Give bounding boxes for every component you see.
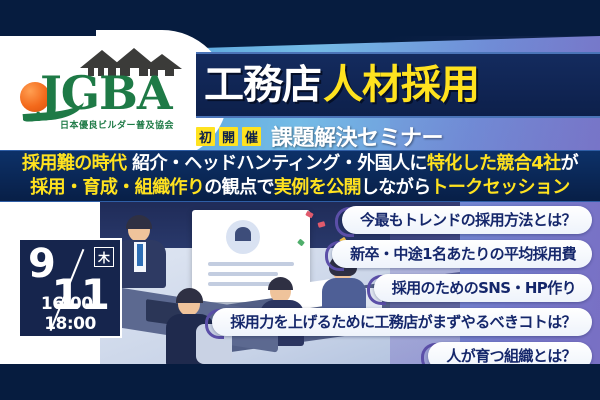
topic-row: 採用力を上げるために工務店がまずやるべきコトは？ bbox=[172, 308, 592, 336]
first-hold-char-3: 催 bbox=[242, 127, 261, 146]
event-day-of-week: 木 bbox=[94, 247, 114, 267]
bottom-navy-band bbox=[0, 364, 600, 400]
message-run-2: 実例を公開 bbox=[274, 177, 361, 198]
topic-row: 採用のためのSNS・HP作り bbox=[172, 274, 592, 302]
logo-letters: JGBA bbox=[40, 66, 172, 120]
jgba-logo: JGBA 日本優良ビルダー普及協会 bbox=[18, 48, 188, 140]
seminar-banner: 工務店 人材採用 初 開 催 課題解決セミナー JGBA 日本優良ビルダー普及協… bbox=[0, 0, 600, 400]
topic-pill-2: 新卒・中途1名あたりの平均採用費 bbox=[332, 240, 592, 268]
title-jinzai-saiyo: 人材採用 bbox=[323, 65, 479, 105]
message-band: 採用難の時代 紹介・ヘッドハンティング・外国人に特化した競合4社が 採用・育成・… bbox=[0, 150, 600, 202]
topic-row: 今最もトレンドの採用方法とは？ bbox=[172, 206, 592, 234]
seminar-subtitle: 課題解決セミナー bbox=[271, 120, 443, 152]
subtitle-row: 初 開 催 課題解決セミナー bbox=[196, 122, 600, 150]
topic-row: 新卒・中途1名あたりの平均採用費 bbox=[172, 240, 592, 268]
title-kumuten: 工務店 bbox=[204, 65, 321, 105]
message-line-2: 採用・育成・組織作りの観点で実例を公開しながらトークセッション bbox=[30, 176, 569, 200]
message-line-1: 採用難の時代 紹介・ヘッドハンティング・外国人に特化した競合4社が bbox=[22, 152, 578, 176]
event-date-block: 9 木 11 16:00-18:00 bbox=[18, 238, 122, 338]
top-navy-band bbox=[0, 0, 600, 38]
message-run-0: 採用難の時代 bbox=[22, 153, 126, 174]
message-run-1: 紹介・ヘッドハンティング・外国人に bbox=[126, 153, 426, 174]
topic-pill-4: 採用力を上げるために工務店がまずやるべきコトは？ bbox=[212, 308, 592, 336]
logo-subtitle: 日本優良ビルダー普及協会 bbox=[46, 118, 188, 131]
message-run-3: が bbox=[561, 153, 578, 174]
topic-pill-1: 今最もトレンドの採用方法とは？ bbox=[342, 206, 592, 234]
page-title: 工務店 人材採用 bbox=[204, 54, 600, 116]
first-hold-char-2: 開 bbox=[219, 127, 238, 146]
message-run-0: 採用・育成・組織作り bbox=[30, 177, 204, 198]
message-run-1: の観点で bbox=[204, 177, 274, 198]
topic-list: 今最もトレンドの採用方法とは？新卒・中途1名あたりの平均採用費採用のためのSNS… bbox=[172, 206, 592, 376]
topic-pill-3: 採用のためのSNS・HP作り bbox=[374, 274, 592, 302]
first-hold-char-1: 初 bbox=[196, 127, 215, 146]
event-time: 16:00-18:00 bbox=[20, 294, 120, 334]
message-run-2: 特化した競合4社 bbox=[427, 153, 561, 174]
message-run-4: トークセッション bbox=[431, 177, 570, 198]
message-run-3: しながら bbox=[361, 177, 431, 198]
